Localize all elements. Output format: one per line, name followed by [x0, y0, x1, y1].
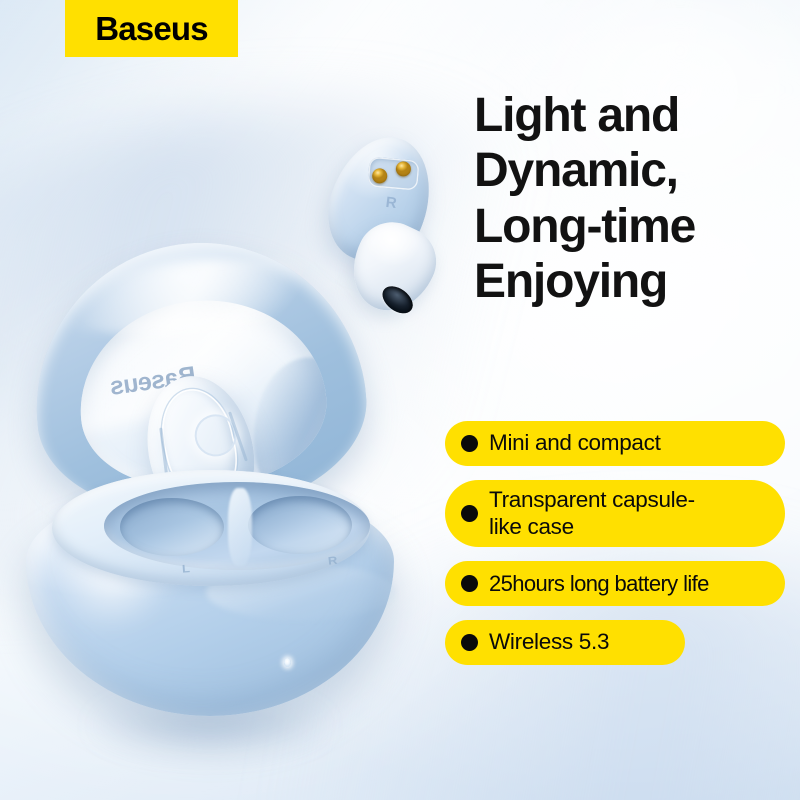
feature-label: Transparent capsule- like case	[489, 487, 695, 539]
bullet-dot-icon	[461, 505, 478, 522]
feature-label: 25hours long battery life	[489, 571, 709, 597]
headline-line-3: Long-time	[474, 199, 794, 254]
feature-list: Mini and compact Transparent capsule- li…	[445, 421, 785, 679]
headline: Light and Dynamic, Long-time Enjoying	[474, 88, 794, 310]
cradle-marking-left: L	[182, 562, 191, 575]
case-top-rim: L R	[52, 470, 370, 586]
bullet-dot-icon	[461, 575, 478, 592]
feature-pill-mini-and-compact: Mini and compact	[445, 421, 785, 466]
earbud-channel-marking: R	[385, 194, 398, 212]
feature-label-line-1: Transparent capsule-	[489, 487, 695, 512]
feature-label: Mini and compact	[489, 430, 661, 456]
headline-line-4: Enjoying	[474, 254, 794, 309]
headline-line-2: Dynamic,	[474, 143, 794, 198]
feature-label: Wireless 5.3	[489, 629, 609, 655]
charging-case-body: L R	[26, 470, 394, 720]
cradle-marking-right: R	[327, 554, 338, 568]
feature-pill-transparent-capsule-like-case: Transparent capsule- like case	[445, 480, 785, 547]
feature-label-line-2: like case	[489, 514, 574, 539]
charging-contact-plate	[367, 156, 419, 190]
bullet-dot-icon	[461, 435, 478, 452]
feature-pill-wireless-version: Wireless 5.3	[445, 620, 685, 665]
battery-led-indicator-icon	[284, 658, 291, 667]
charging-contact-icon	[372, 168, 388, 184]
cradle-divider	[228, 488, 252, 566]
headline-line-1: Light and	[474, 88, 794, 143]
feature-pill-battery-life: 25hours long battery life	[445, 561, 785, 606]
bullet-dot-icon	[461, 634, 478, 651]
cradle-slot-right	[248, 496, 352, 554]
ad-canvas: R Baseus	[0, 0, 800, 800]
cradle-slot-left	[120, 498, 224, 556]
brand-logo: Baseus	[65, 0, 238, 57]
charging-contact-icon	[395, 161, 411, 177]
brand-logo-text: Baseus	[95, 12, 208, 45]
